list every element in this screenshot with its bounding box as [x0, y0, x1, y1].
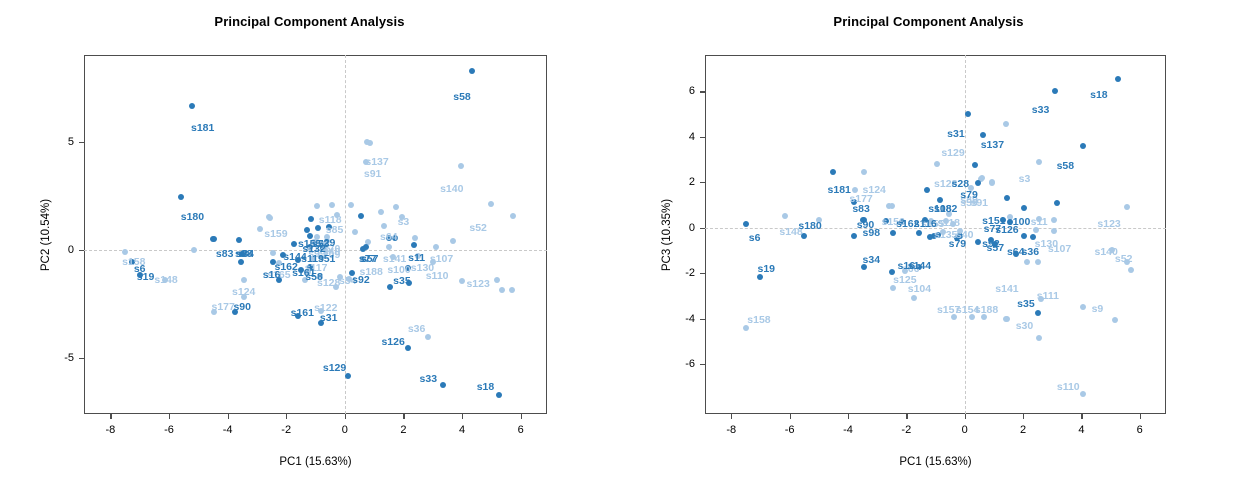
scatter-point — [924, 187, 930, 193]
scatter-point — [782, 213, 788, 219]
point-label: s181 — [828, 185, 851, 196]
point-label: s123 — [1097, 219, 1120, 230]
scatter-point — [1003, 316, 1009, 322]
point-label: s6 — [749, 233, 761, 244]
scatter-point — [450, 238, 456, 244]
point-label: s3 — [1019, 174, 1031, 185]
scatter-point — [469, 68, 475, 74]
scatter-point — [496, 392, 502, 398]
scatter-point — [1036, 159, 1042, 165]
point-label: s129 — [323, 363, 346, 374]
scatter-point — [1080, 143, 1086, 149]
y-tick-mark — [700, 364, 705, 365]
point-label: s36 — [1022, 247, 1040, 258]
scatter-point — [257, 226, 263, 232]
point-label: s33 — [420, 374, 438, 385]
x-tick-mark — [286, 414, 287, 419]
point-label: s123 — [466, 279, 489, 290]
y-tick-mark — [700, 228, 705, 229]
scatter-point — [1035, 310, 1041, 316]
x-tick-mark — [345, 414, 346, 419]
point-label: s34 — [863, 255, 881, 266]
point-label: s126 — [995, 225, 1018, 236]
scatter-point — [1051, 228, 1057, 234]
scatter-point — [1036, 335, 1042, 341]
x-tick-label: 6 — [1137, 424, 1143, 436]
x-tick-mark — [1140, 414, 1141, 419]
point-label: s181 — [191, 123, 214, 134]
y-tick-mark — [700, 137, 705, 138]
scatter-point — [348, 202, 354, 208]
scatter-point — [308, 216, 314, 222]
point-label: s51 — [318, 254, 336, 265]
scatter-point — [210, 236, 216, 242]
point-label: s92 — [352, 275, 370, 286]
x-axis-title: PC1 (15.63%) — [899, 456, 971, 468]
point-label: s158 — [747, 315, 770, 326]
point-label: s30 — [1016, 321, 1034, 332]
scatter-point — [890, 230, 896, 236]
scatter-point — [1128, 267, 1134, 273]
point-label: s144 — [908, 261, 931, 272]
point-label: s19 — [137, 272, 155, 283]
point-label: s36 — [408, 324, 426, 335]
reference-line-vertical — [345, 55, 346, 414]
point-label: s35 — [393, 276, 411, 287]
x-tick-mark — [790, 414, 791, 419]
scatter-point — [364, 139, 370, 145]
chart-panel-left: Principal Component Analysiss137s91s140s… — [0, 0, 619, 500]
scatter-point — [830, 169, 836, 175]
scatter-point — [352, 229, 358, 235]
scatter-point — [266, 214, 272, 220]
point-label: s79 — [949, 239, 967, 250]
y-tick-mark — [79, 358, 84, 359]
scatter-point — [934, 161, 940, 167]
x-tick-label: -2 — [281, 424, 291, 436]
scatter-point — [241, 277, 247, 283]
point-label: s58 — [453, 92, 471, 103]
y-tick-label: 4 — [689, 131, 695, 143]
point-label: s137 — [365, 157, 388, 168]
scatter-point — [425, 334, 431, 340]
x-tick-label: -8 — [105, 424, 115, 436]
chart-title: Principal Component Analysis — [0, 14, 619, 29]
scatter-point — [459, 278, 465, 284]
scatter-point — [412, 235, 418, 241]
x-axis-title: PC1 (15.63%) — [279, 456, 351, 468]
scatter-point — [1112, 317, 1118, 323]
scatter-point — [972, 162, 978, 168]
chart-panel-right: Principal Component Analysiss129s3s128s1… — [619, 0, 1238, 500]
scatter-point — [861, 169, 867, 175]
x-tick-mark — [462, 414, 463, 419]
scatter-point — [1115, 76, 1121, 82]
scatter-point — [509, 287, 515, 293]
scatter-point — [393, 204, 399, 210]
y-tick-mark — [700, 91, 705, 92]
point-label: s11 — [408, 253, 425, 264]
scatter-point — [980, 132, 986, 138]
scatter-point — [178, 194, 184, 200]
point-label: s107 — [1048, 244, 1071, 255]
x-tick-label: 2 — [1020, 424, 1026, 436]
point-label: s83 — [216, 249, 234, 260]
point-label: s177 — [212, 302, 235, 313]
plot-area: s129s3s128s124s177s89s59s91s11s123s156s1… — [705, 55, 1166, 414]
x-tick-label: 4 — [1078, 424, 1084, 436]
point-label: s140 — [440, 184, 463, 195]
point-label: s116 — [914, 219, 937, 230]
point-label: s79 — [960, 190, 978, 201]
point-label: s141 — [383, 254, 406, 265]
scatter-point — [458, 163, 464, 169]
scatter-point — [916, 230, 922, 236]
point-label: s52 — [1115, 254, 1133, 265]
y-tick-label: 2 — [689, 176, 695, 188]
scatter-point — [1054, 200, 1060, 206]
scatter-point — [1021, 205, 1027, 211]
point-label: s57 — [987, 243, 1005, 254]
y-tick-label: -2 — [685, 267, 695, 279]
point-label: s159 — [264, 229, 287, 240]
scatter-point — [965, 111, 971, 117]
scatter-point — [851, 233, 857, 239]
scatter-point — [1051, 217, 1057, 223]
point-label: s148 — [154, 275, 177, 286]
point-label: s118 — [937, 218, 960, 229]
scatter-point — [291, 241, 297, 247]
scatter-point — [358, 213, 364, 219]
pca-figure: Principal Component Analysiss137s91s140s… — [0, 0, 1238, 500]
y-tick-mark — [700, 273, 705, 274]
scatter-point — [1080, 391, 1086, 397]
chart-title: Principal Component Analysis — [619, 14, 1238, 29]
scatter-point — [975, 239, 981, 245]
scatter-point — [1052, 88, 1058, 94]
y-tick-mark — [79, 142, 84, 143]
x-tick-mark — [965, 414, 966, 419]
x-tick-label: 0 — [342, 424, 348, 436]
x-tick-mark — [228, 414, 229, 419]
point-label: s34 — [236, 249, 254, 260]
point-label: s104 — [908, 284, 931, 295]
scatter-point — [386, 244, 392, 250]
point-label: s83 — [852, 204, 870, 215]
point-label: s90 — [233, 302, 251, 313]
point-label: s11 — [1031, 217, 1048, 228]
x-tick-label: -4 — [223, 424, 233, 436]
point-label: s16 — [263, 270, 281, 281]
scatter-point — [1003, 121, 1009, 127]
scatter-point — [889, 203, 895, 209]
point-label: s18 — [477, 382, 495, 393]
scatter-point — [979, 175, 985, 181]
y-tick-label: 5 — [68, 136, 74, 148]
x-tick-mark — [906, 414, 907, 419]
scatter-point — [1004, 195, 1010, 201]
point-label: s137 — [981, 140, 1004, 151]
scatter-point — [1021, 233, 1027, 239]
point-label: s161 — [291, 308, 314, 319]
x-tick-label: -6 — [164, 424, 174, 436]
point-label: s129 — [941, 148, 964, 159]
y-tick-mark — [700, 319, 705, 320]
scatter-point — [743, 221, 749, 227]
scatter-point — [314, 203, 320, 209]
point-label: s110 — [426, 271, 449, 282]
y-tick-label: -4 — [685, 313, 695, 325]
point-label: s28 — [952, 179, 970, 190]
x-tick-label: -4 — [843, 424, 853, 436]
scatter-point — [433, 244, 439, 250]
scatter-point — [360, 246, 366, 252]
point-label: s19 — [758, 264, 776, 275]
scatter-point — [510, 213, 516, 219]
y-tick-label: -6 — [685, 358, 695, 370]
x-tick-label: 0 — [962, 424, 968, 436]
point-label: s64 — [380, 232, 398, 243]
scatter-point — [381, 223, 387, 229]
scatter-point — [499, 287, 505, 293]
x-tick-label: 4 — [459, 424, 465, 436]
x-tick-mark — [169, 414, 170, 419]
scatter-point — [329, 202, 335, 208]
scatter-point — [236, 237, 242, 243]
x-tick-mark — [1081, 414, 1082, 419]
scatter-point — [122, 249, 128, 255]
x-tick-mark — [403, 414, 404, 419]
point-label: s141 — [995, 284, 1018, 295]
point-label: s35 — [1017, 299, 1035, 310]
point-label: s31 — [947, 129, 965, 140]
point-label: s180 — [798, 221, 821, 232]
scatter-point — [189, 103, 195, 109]
scatter-point — [378, 209, 384, 215]
point-label: s110 — [1057, 382, 1080, 393]
x-tick-label: -6 — [785, 424, 795, 436]
y-tick-label: 0 — [689, 222, 695, 234]
y-axis-title: PC2 (10.54%) — [40, 198, 52, 270]
point-label: s126 — [381, 337, 404, 348]
point-label: s52 — [469, 223, 487, 234]
point-label: s182 — [934, 204, 957, 215]
plot-area: s137s91s140s118s3s52s85s159s64s135s70s40… — [84, 55, 547, 414]
y-tick-label: 6 — [689, 85, 695, 97]
point-label: s111 — [1037, 291, 1059, 302]
point-label: s77 — [359, 254, 377, 265]
point-label: s33 — [1032, 105, 1050, 116]
point-label: s3 — [398, 217, 410, 228]
scatter-point — [1035, 259, 1041, 265]
scatter-point — [411, 242, 417, 248]
x-tick-label: -8 — [726, 424, 736, 436]
x-tick-label: -2 — [901, 424, 911, 436]
scatter-point — [911, 295, 917, 301]
point-label: s31 — [320, 313, 338, 324]
point-label: s18 — [1090, 90, 1108, 101]
scatter-point — [975, 180, 981, 186]
scatter-point — [440, 382, 446, 388]
y-tick-label: -5 — [64, 352, 74, 364]
point-label: s9 — [1092, 304, 1104, 315]
x-tick-mark — [110, 414, 111, 419]
x-tick-mark — [731, 414, 732, 419]
x-tick-mark — [521, 414, 522, 419]
point-label: s91 — [364, 169, 382, 180]
x-tick-label: 2 — [400, 424, 406, 436]
x-tick-mark — [1023, 414, 1024, 419]
y-tick-mark — [79, 250, 84, 251]
scatter-point — [1024, 259, 1030, 265]
point-label: s58 — [1057, 161, 1075, 172]
point-label: s180 — [181, 212, 204, 223]
y-axis-title: PC3 (10.35%) — [661, 198, 673, 270]
point-label: s98 — [863, 228, 881, 239]
scatter-point — [1080, 304, 1086, 310]
point-label: s58 — [305, 272, 323, 283]
scatter-point — [405, 345, 411, 351]
x-tick-mark — [848, 414, 849, 419]
scatter-point — [494, 277, 500, 283]
x-tick-label: 6 — [518, 424, 524, 436]
scatter-point — [191, 247, 197, 253]
scatter-point — [989, 179, 995, 185]
point-label: s124 — [232, 287, 255, 298]
y-tick-label: 0 — [68, 244, 74, 256]
scatter-point — [270, 250, 276, 256]
y-tick-mark — [700, 182, 705, 183]
point-label: s85 — [326, 225, 344, 236]
point-label: s188 — [975, 305, 998, 316]
scatter-point — [1124, 204, 1130, 210]
scatter-point — [488, 201, 494, 207]
